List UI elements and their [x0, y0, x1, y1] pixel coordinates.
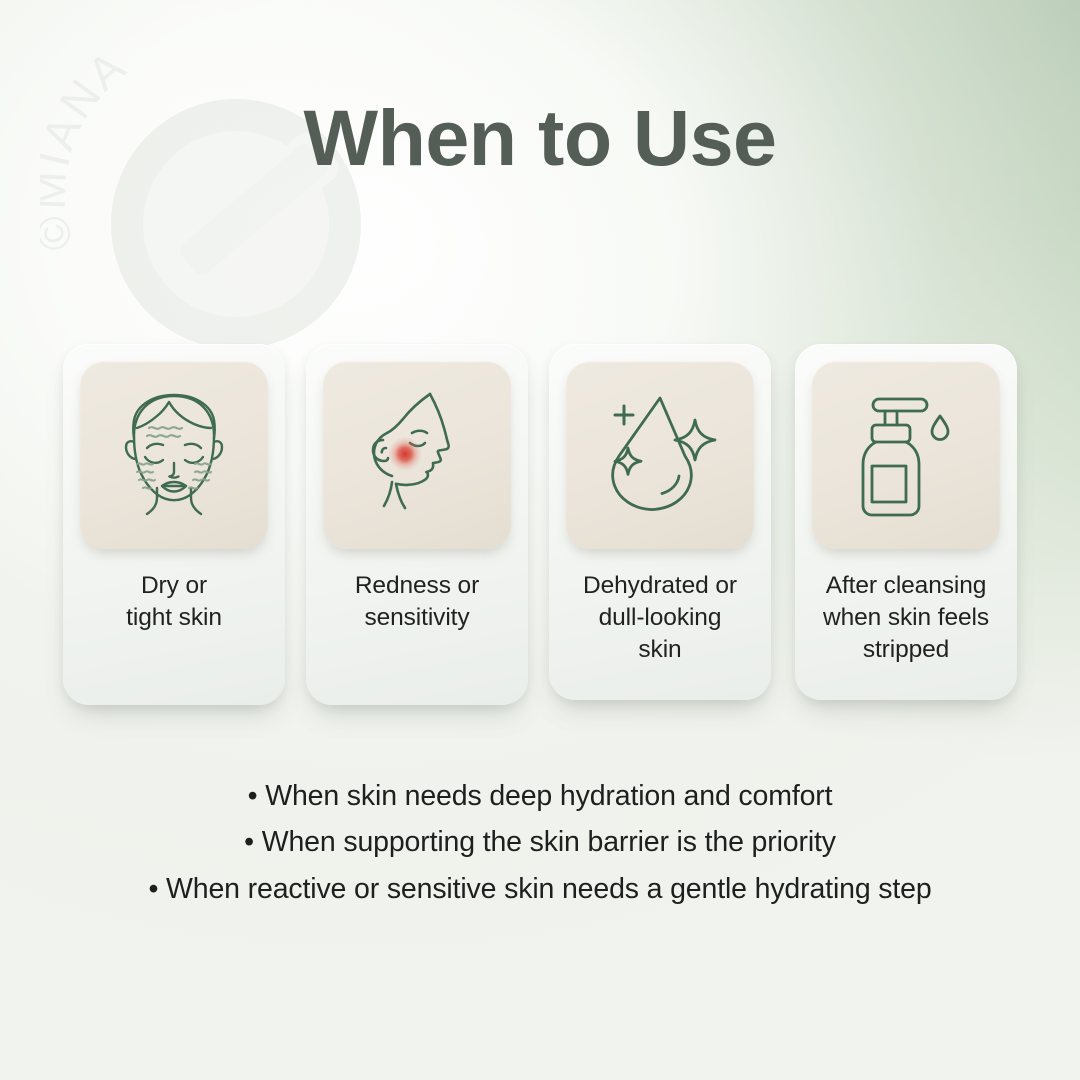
icon-tile — [566, 361, 754, 549]
icon-tile — [80, 361, 268, 549]
bullet-item: • When supporting the skin barrier is th… — [0, 819, 1080, 865]
use-case-card-row: Dry or tight skin — [63, 344, 1017, 714]
use-case-card-after-cleansing[interactable]: After cleansing when skin feels stripped — [795, 344, 1017, 700]
bullet-item: • When skin needs deep hydration and com… — [0, 773, 1080, 819]
card-label-line: Redness or — [317, 570, 517, 602]
pump-bottle-droplet-icon — [831, 380, 981, 530]
icon-tile — [812, 361, 1000, 549]
use-case-card-dehydrated[interactable]: Dehydrated or dull-looking skin — [549, 344, 771, 700]
card-label-line: sensitivity — [317, 602, 517, 634]
card-label: Dry or tight skin — [74, 570, 274, 634]
card-label: Redness or sensitivity — [317, 570, 517, 634]
bullet-item: • When reactive or sensitive skin needs … — [0, 866, 1080, 912]
infographic-canvas: ©MIANA When to Use — [0, 0, 1080, 1080]
redness-spot — [388, 437, 422, 471]
card-label-line: tight skin — [74, 602, 274, 634]
icon-tile — [323, 361, 511, 549]
use-case-card-redness[interactable]: Redness or sensitivity — [306, 344, 528, 705]
card-label-line: skin — [560, 634, 760, 666]
face-profile-redness-icon — [342, 380, 492, 530]
card-label-line: stripped — [806, 634, 1006, 666]
water-droplet-sparkle-icon — [585, 380, 735, 530]
use-case-card-dry-skin[interactable]: Dry or tight skin — [63, 344, 285, 705]
card-label: After cleansing when skin feels stripped — [806, 570, 1006, 666]
page-title: When to Use — [0, 98, 1080, 177]
card-label-line: Dry or — [74, 570, 274, 602]
card-label-line: when skin feels — [806, 602, 1006, 634]
benefit-bullet-list: • When skin needs deep hydration and com… — [0, 773, 1080, 912]
wrinkled-face-icon — [99, 380, 249, 530]
card-label-line: After cleansing — [806, 570, 1006, 602]
card-label-line: Dehydrated or — [560, 570, 760, 602]
card-label: Dehydrated or dull-looking skin — [560, 570, 760, 666]
brand-watermark: ©MIANA — [40, 28, 460, 348]
card-label-line: dull-looking — [560, 602, 760, 634]
